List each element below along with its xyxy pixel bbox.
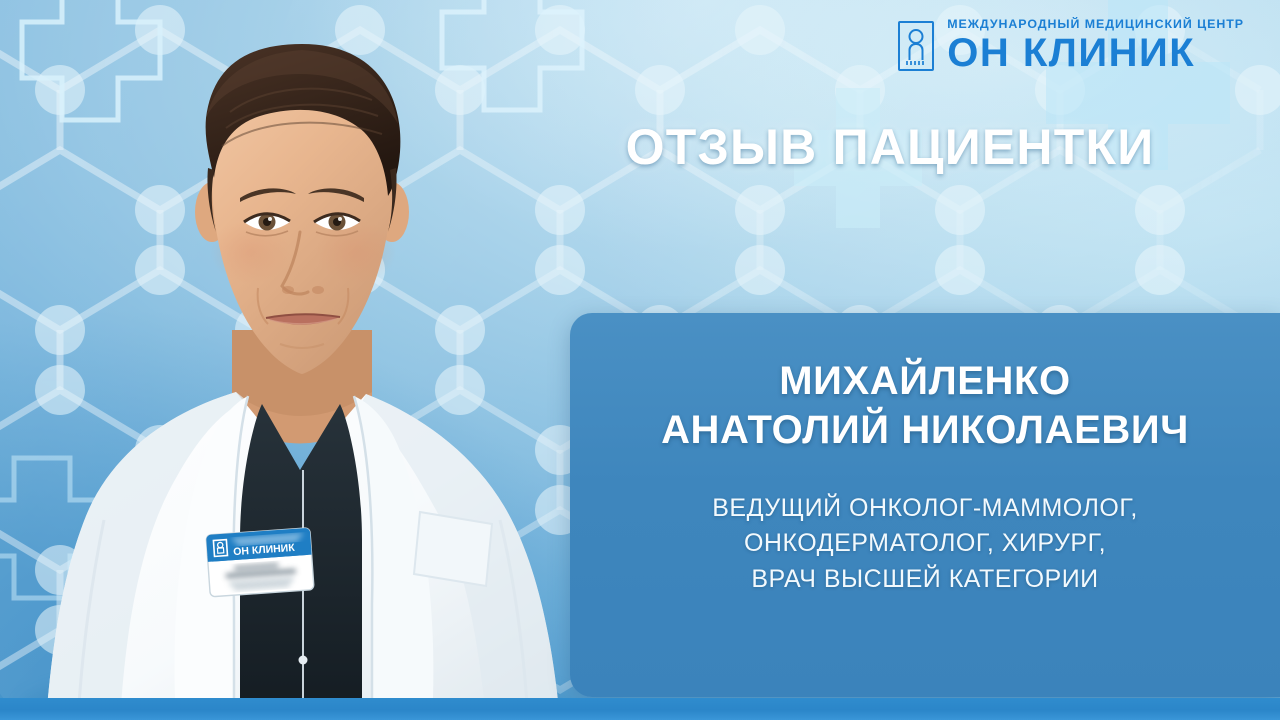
doctor-role-line-2: ОНКОДЕРМАТОЛОГ, ХИРУРГ,	[598, 526, 1252, 562]
doctor-name-line-2: АНАТОЛИЙ НИКОЛАЕВИЧ	[598, 406, 1252, 455]
doctor-name: МИХАЙЛЕНКО АНАТОЛИЙ НИКОЛАЕВИЧ	[598, 357, 1252, 455]
doctor-role-line-1: ВЕДУЩИЙ ОНКОЛОГ-МАММОЛОГ,	[598, 491, 1252, 527]
doctor-photo: ОН КЛИНИК	[0, 0, 620, 720]
brand-tagline: МЕЖДУНАРОДНЫЙ МЕДИЦИНСКИЙ ЦЕНТР	[947, 18, 1244, 30]
doctor-info-panel: МИХАЙЛЕНКО АНАТОЛИЙ НИКОЛАЕВИЧ ВЕДУЩИЙ О…	[570, 313, 1280, 697]
doctor-role-line-3: ВРАЧ ВЫСШЕЙ КАТЕГОРИИ	[598, 562, 1252, 598]
doctor-name-line-1: МИХАЙЛЕНКО	[598, 357, 1252, 406]
brand-name: ОН КЛИНИК	[947, 33, 1195, 74]
brand-logo-text: МЕЖДУНАРОДНЫЙ МЕДИЦИНСКИЙ ЦЕНТР ОН КЛИНИ…	[947, 18, 1244, 74]
on-clinic-person-frame-icon	[898, 21, 934, 71]
page-title: ОТЗЫВ ПАЦИЕНТКИ	[570, 118, 1210, 176]
brand-logo[interactable]: МЕЖДУНАРОДНЫЙ МЕДИЦИНСКИЙ ЦЕНТР ОН КЛИНИ…	[898, 18, 1244, 74]
bottom-accent-bar	[0, 698, 1280, 720]
thumbnail-canvas: МЕЖДУНАРОДНЫЙ МЕДИЦИНСКИЙ ЦЕНТР ОН КЛИНИ…	[0, 0, 1280, 720]
doctor-role: ВЕДУЩИЙ ОНКОЛОГ-МАММОЛОГ, ОНКОДЕРМАТОЛОГ…	[598, 491, 1252, 598]
id-badge: ОН КЛИНИК	[206, 528, 314, 597]
